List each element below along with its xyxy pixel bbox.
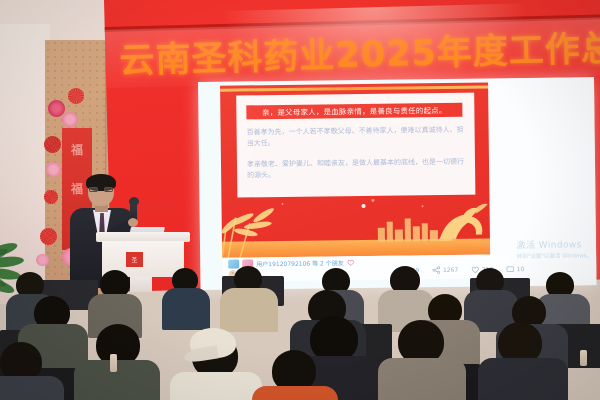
- paper-flower-icon: [46, 162, 61, 177]
- conference-scene: 福 福 福 云南圣科药业2025年度工作总结暨: [0, 0, 600, 400]
- paper-flower-icon: [62, 112, 78, 127]
- slide-artwork: [221, 194, 490, 257]
- sparkle-dot: [281, 203, 283, 205]
- microphone-head: [129, 197, 139, 206]
- paper-fan-icon: [44, 190, 58, 204]
- paper-fan-icon: [68, 88, 84, 104]
- slide-headline: 亲，是父母家人，是血脉亲情，是善良与责任的起点。: [246, 103, 462, 120]
- projection-screen: 亲，是父母家人，是血脉亲情，是善良与责任的起点。 百善孝为先，一个人若不孝敬父母…: [198, 77, 597, 290]
- avatar: [228, 260, 239, 269]
- podium-logo: 圣: [126, 252, 143, 267]
- podium-logo-text: 圣: [131, 255, 137, 264]
- likes-label: 用户19120792106 等 2 个朋友: [256, 258, 344, 268]
- watermark-line-2: 转到"设置"以激活 Windows。: [517, 251, 592, 260]
- slide-text-card: 亲，是父母家人，是血脉亲情，是善良与责任的起点。 百善孝为先，一个人若不孝敬父母…: [236, 93, 475, 198]
- paper-fan-icon: [44, 136, 61, 153]
- windows-activation-watermark: 激活 Windows 转到"设置"以激活 Windows。: [517, 237, 593, 260]
- slide-top-accent: [220, 85, 488, 91]
- sparkle-dot: [422, 205, 424, 207]
- water-bottle: [110, 354, 117, 372]
- heart-icon[interactable]: [347, 259, 354, 266]
- bamboo-icon: [221, 198, 326, 257]
- fu-char-1: 福: [71, 144, 83, 156]
- presentation-slide: 亲，是父母家人，是血脉亲情，是善良与责任的起点。 百善孝为先，一个人若不孝敬父母…: [220, 82, 490, 257]
- sparkle-dot: [371, 199, 374, 202]
- banner-headline: 云南圣科药业2025年度工作总结暨: [119, 19, 600, 83]
- water-bottle: [580, 350, 587, 366]
- golden-horse-icon: [429, 202, 488, 245]
- slide-paragraph-1: 百善孝为先，一个人若不孝敬父母、不善待家人，便难以真诚待人、担当大任。: [247, 125, 465, 150]
- slide-paragraph-2: 孝亲敬老、爱护妻儿、和睦亲友，是做人最基本的底线，也是一切德行的源头。: [247, 157, 465, 182]
- cursor-dot: [362, 204, 366, 208]
- watermark-line-1: 激活 Windows: [517, 237, 593, 251]
- speaker-hand: [128, 218, 138, 227]
- glasses-icon: [89, 187, 113, 192]
- audience-area: [0, 272, 600, 400]
